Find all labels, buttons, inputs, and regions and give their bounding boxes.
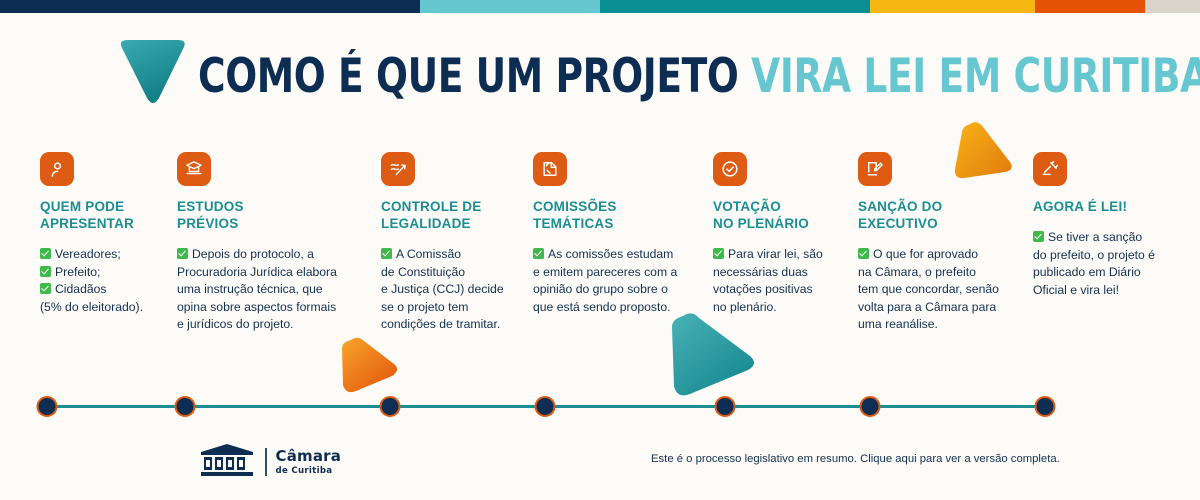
logo-title: Câmara — [276, 449, 342, 464]
signature-icon — [858, 152, 892, 186]
step-body-text: volta para a Câmara para — [858, 300, 996, 314]
check-icon — [40, 266, 51, 277]
check-icon — [713, 248, 724, 259]
topbar-segment-yellow — [870, 0, 1035, 13]
step-title: QUEM PODE APRESENTAR — [40, 198, 165, 232]
timeline-dot-7[interactable] — [1035, 396, 1056, 417]
step-body-line: se o projeto tem — [381, 299, 526, 317]
topbar-segment-gray — [1145, 0, 1200, 13]
step-body: Depois do protocolo, aProcuradoria Juríd… — [177, 246, 352, 334]
step-controle-de-legalidade[interactable]: CONTROLE DE LEGALIDADEA Comissãode Const… — [381, 152, 526, 334]
check-icon — [533, 248, 544, 259]
topbar-segment-orange — [1035, 0, 1145, 13]
step-agora-e-lei[interactable]: AGORA É LEI!Se tiver a sançãodo prefeito… — [1033, 152, 1173, 299]
step-body-text: opinião do grupo sobre o — [533, 282, 668, 296]
step-body-line: Prefeito; — [40, 264, 165, 282]
check-icon — [177, 248, 188, 259]
steps-container: QUEM PODE APRESENTARVereadores;Prefeito;… — [0, 152, 1200, 352]
top-color-bar — [0, 0, 1200, 13]
step-body-line: opinião do grupo sobre o — [533, 281, 693, 299]
check-icon — [40, 283, 51, 294]
report-icon — [533, 152, 567, 186]
step-body: Se tiver a sançãodo prefeito, o projeto … — [1033, 229, 1173, 299]
step-body-text: As comissões estudam — [548, 247, 673, 261]
step-body-line: Procuradoria Jurídica elabora — [177, 264, 352, 282]
step-body-line: Se tiver a sanção — [1033, 229, 1173, 247]
page-title-teal: VIRA LEI EM CURITIBA — [751, 49, 1200, 104]
step-body-line: Oficial e vira lei! — [1033, 282, 1173, 300]
step-body-text: tem que concordar, senão — [858, 282, 999, 296]
step-body-text: Prefeito; — [55, 265, 100, 279]
step-body-line: publicado em Diário — [1033, 264, 1173, 282]
step-body-line: volta para a Câmara para — [858, 299, 1023, 317]
step-body-text: na Câmara, o prefeito — [858, 265, 976, 279]
step-body-line: e Justiça (CCJ) decide — [381, 281, 526, 299]
step-body-text: de Constituição — [381, 265, 465, 279]
step-body-text: do prefeito, o projeto é — [1033, 248, 1155, 262]
footer-note[interactable]: Este é o processo legislativo em resumo.… — [651, 453, 1060, 465]
step-body: As comissões estudame emitem pareceres c… — [533, 246, 693, 316]
check-icon — [858, 248, 869, 259]
logo-divider — [265, 448, 267, 476]
teal-triangle-header-icon — [112, 36, 194, 108]
step-votacao-no-plenario[interactable]: VOTAÇÃO NO PLENÁRIOPara virar lei, sãone… — [713, 152, 848, 316]
timeline-dot-5[interactable] — [715, 396, 736, 417]
step-body-line: O que for aprovado — [858, 246, 1023, 264]
step-body-line: tem que concordar, senão — [858, 281, 1023, 299]
step-body-text: Procuradoria Jurídica elabora — [177, 265, 337, 279]
step-quem-pode-apresentar[interactable]: QUEM PODE APRESENTARVereadores;Prefeito;… — [40, 152, 165, 316]
step-body-line: Depois do protocolo, a — [177, 246, 352, 264]
step-title: SANÇÃO DO EXECUTIVO — [858, 198, 1023, 232]
step-title: CONTROLE DE LEGALIDADE — [381, 198, 526, 232]
step-title: VOTAÇÃO NO PLENÁRIO — [713, 198, 848, 232]
step-body-text: necessárias duas — [713, 265, 808, 279]
step-body-line: e emitem pareceres com a — [533, 264, 693, 282]
step-body-line: Para virar lei, são — [713, 246, 848, 264]
step-body-line: votações positivas — [713, 281, 848, 299]
topbar-segment-teal — [600, 0, 870, 13]
timeline-dot-1[interactable] — [37, 396, 58, 417]
check-icon — [381, 248, 392, 259]
step-body-text: votações positivas — [713, 282, 813, 296]
step-body-text: opina sobre aspectos formais — [177, 300, 336, 314]
topbar-segment-light-teal — [420, 0, 600, 13]
step-body-line: As comissões estudam — [533, 246, 693, 264]
gavel-icon — [1033, 152, 1067, 186]
check-circle-icon — [713, 152, 747, 186]
legality-icon — [381, 152, 415, 186]
step-body-text: e jurídicos do projeto. — [177, 317, 294, 331]
study-icon — [177, 152, 211, 186]
step-body-text: Se tiver a sanção — [1048, 230, 1142, 244]
step-body-text: O que for aprovado — [873, 247, 978, 261]
step-body-line: que está sendo proposto. — [533, 299, 693, 317]
step-body: Vereadores;Prefeito;Cidadãos(5% do eleit… — [40, 246, 165, 316]
step-body: A Comissãode Constituiçãoe Justiça (CCJ)… — [381, 246, 526, 334]
step-body-line: (5% do eleitorado). — [40, 299, 165, 317]
step-body-text: (5% do eleitorado). — [40, 300, 143, 314]
step-body-text: Depois do protocolo, a — [192, 247, 314, 261]
step-body-line: necessárias duas — [713, 264, 848, 282]
step-body-text: condições de tramitar. — [381, 317, 500, 331]
topbar-segment-navy — [0, 0, 420, 13]
step-body-line: opina sobre aspectos formais — [177, 299, 352, 317]
step-sancao-do-executivo[interactable]: SANÇÃO DO EXECUTIVOO que for aprovadona … — [858, 152, 1023, 334]
step-body-text: no plenário. — [713, 300, 777, 314]
step-body-line: Cidadãos — [40, 281, 165, 299]
step-body-text: que está sendo proposto. — [533, 300, 671, 314]
timeline-dot-4[interactable] — [535, 396, 556, 417]
page-title: COMO É QUE UM PROJETO VIRA LEI EM CURITI… — [198, 52, 1200, 102]
step-body-line: uma reanálise. — [858, 316, 1023, 334]
step-body-text: A Comissão — [396, 247, 461, 261]
building-icon — [198, 443, 256, 482]
check-icon — [40, 248, 51, 259]
step-body-line: uma instrução técnica, que — [177, 281, 352, 299]
step-body: Para virar lei, sãonecessárias duasvotaç… — [713, 246, 848, 316]
step-body-text: e Justiça (CCJ) decide — [381, 282, 504, 296]
step-body-line: de Constituição — [381, 264, 526, 282]
step-body-text: uma instrução técnica, que — [177, 282, 323, 296]
camara-logo[interactable]: Câmara de Curitiba — [198, 441, 341, 483]
step-body-line: condições de tramitar. — [381, 316, 526, 334]
step-body-line: no plenário. — [713, 299, 848, 317]
step-body-line: A Comissão — [381, 246, 526, 264]
step-body-text: se o projeto tem — [381, 300, 468, 314]
step-body-text: Oficial e vira lei! — [1033, 283, 1119, 297]
timeline-dot-3[interactable] — [380, 396, 401, 417]
step-comissoes-tematicas[interactable]: COMISSÕES TEMÁTICASAs comissões estudame… — [533, 152, 693, 316]
step-body-line: na Câmara, o prefeito — [858, 264, 1023, 282]
timeline — [0, 396, 1200, 418]
logo-subtitle: de Curitiba — [276, 467, 342, 476]
page-title-dark: COMO É QUE UM PROJETO — [198, 49, 738, 104]
timeline-dot-2[interactable] — [175, 396, 196, 417]
step-body: O que for aprovadona Câmara, o prefeitot… — [858, 246, 1023, 334]
timeline-dot-6[interactable] — [860, 396, 881, 417]
step-title: COMISSÕES TEMÁTICAS — [533, 198, 693, 232]
step-body-text: uma reanálise. — [858, 317, 938, 331]
step-body-line: do prefeito, o projeto é — [1033, 247, 1173, 265]
step-title: AGORA É LEI! — [1033, 198, 1173, 215]
step-estudos-previos[interactable]: ESTUDOS PRÉVIOSDepois do protocolo, aPro… — [177, 152, 352, 334]
check-icon — [1033, 231, 1044, 242]
step-body-text: Para virar lei, são — [728, 247, 823, 261]
step-title: ESTUDOS PRÉVIOS — [177, 198, 352, 232]
person-icon — [40, 152, 74, 186]
step-body-line: Vereadores; — [40, 246, 165, 264]
step-body-text: e emitem pareceres com a — [533, 265, 677, 279]
step-body-line: e jurídicos do projeto. — [177, 316, 352, 334]
step-body-text: publicado em Diário — [1033, 265, 1141, 279]
step-body-text: Vereadores; — [55, 247, 121, 261]
step-body-text: Cidadãos — [55, 282, 107, 296]
